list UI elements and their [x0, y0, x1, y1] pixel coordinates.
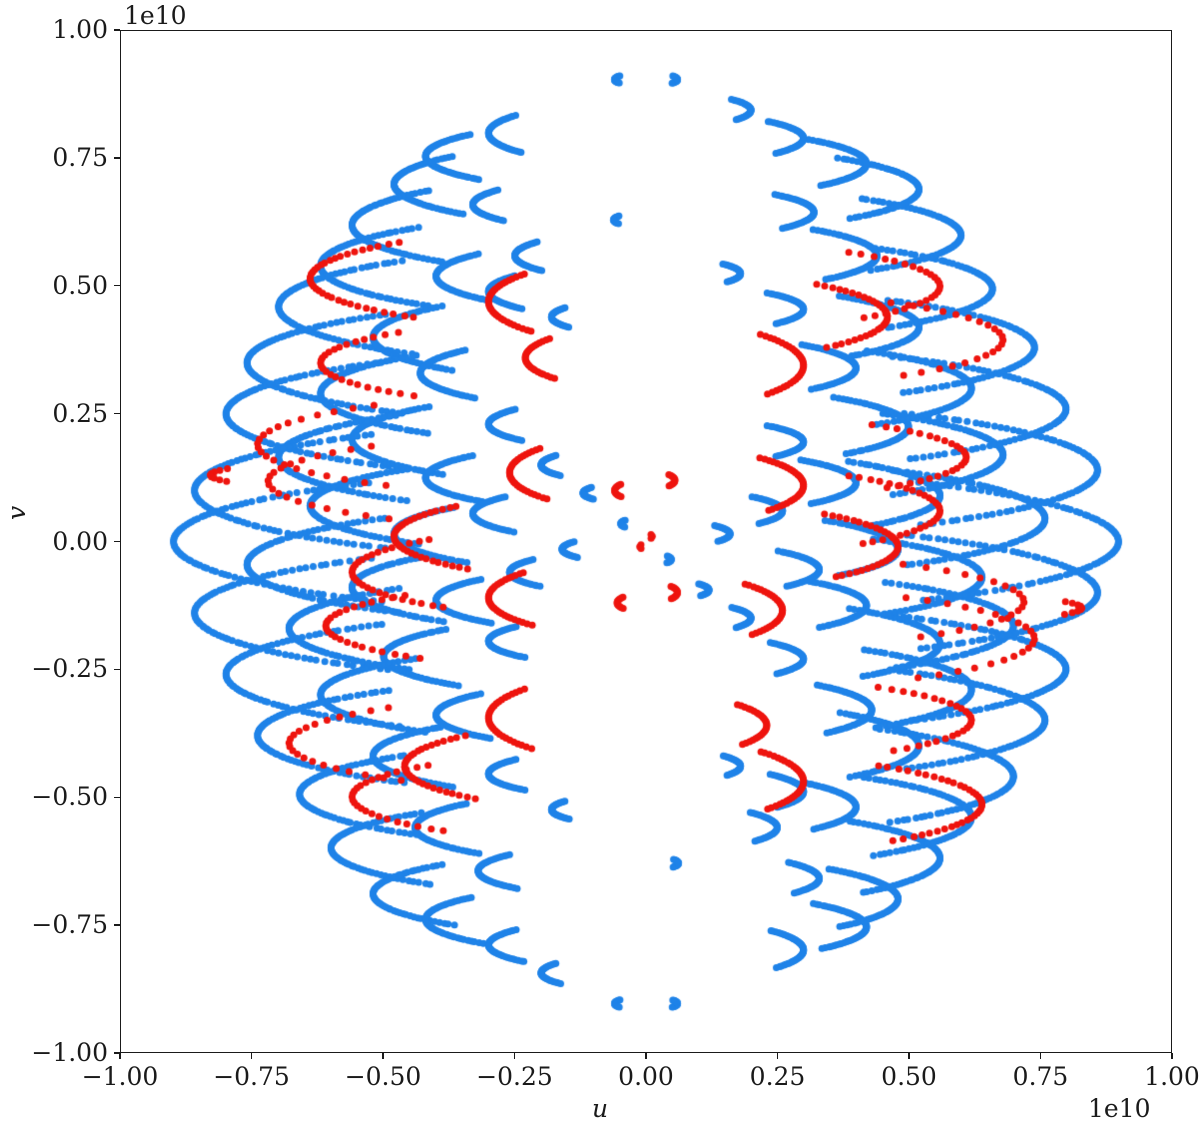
- x-tick-label: −0.75: [213, 1064, 290, 1089]
- y-tick-label: 1.00: [52, 17, 108, 42]
- x-tick-mark: [119, 1053, 120, 1059]
- x-tick-mark: [251, 1053, 252, 1059]
- x-tick-label: 0.00: [618, 1064, 674, 1089]
- y-tick-label: 0.75: [52, 145, 108, 170]
- y-tick-label: 0.25: [52, 401, 108, 426]
- x-tick-mark: [645, 1053, 646, 1059]
- y-axis-offset-text: 1e10: [124, 3, 187, 28]
- y-tick-mark: [114, 29, 120, 30]
- y-tick-mark: [114, 924, 120, 925]
- y-tick-label: −0.50: [31, 784, 108, 809]
- x-tick-mark: [1040, 1053, 1041, 1059]
- x-tick-label: −0.50: [345, 1064, 422, 1089]
- x-tick-label: 0.75: [1013, 1064, 1069, 1089]
- y-tick-mark: [114, 669, 120, 670]
- x-tick-label: 0.25: [750, 1064, 806, 1089]
- x-tick-mark: [382, 1053, 383, 1059]
- y-tick-label: 0.00: [52, 529, 108, 554]
- x-tick-label: −0.25: [476, 1064, 553, 1089]
- x-tick-mark: [514, 1053, 515, 1059]
- scatter-canvas: [121, 31, 1171, 1052]
- x-tick-label: −1.00: [82, 1064, 159, 1089]
- x-tick-label: 1.00: [1144, 1064, 1200, 1089]
- y-axis-label: v: [2, 506, 31, 520]
- uv-coverage-figure: 1e10 −1.00−0.75−0.50−0.250.000.250.500.7…: [0, 0, 1200, 1129]
- x-tick-mark: [777, 1053, 778, 1059]
- y-tick-mark: [114, 413, 120, 414]
- y-tick-mark: [114, 797, 120, 798]
- y-tick-mark: [114, 541, 120, 542]
- plot-area[interactable]: [120, 30, 1172, 1053]
- x-tick-mark: [1171, 1053, 1172, 1059]
- y-tick-mark: [114, 285, 120, 286]
- y-tick-label: 0.50: [52, 273, 108, 298]
- y-tick-label: −0.75: [31, 912, 108, 937]
- y-tick-label: −0.25: [31, 656, 108, 681]
- x-tick-mark: [908, 1053, 909, 1059]
- y-tick-mark: [114, 157, 120, 158]
- x-tick-label: 0.50: [881, 1064, 937, 1089]
- x-axis-label: u: [0, 1094, 1200, 1123]
